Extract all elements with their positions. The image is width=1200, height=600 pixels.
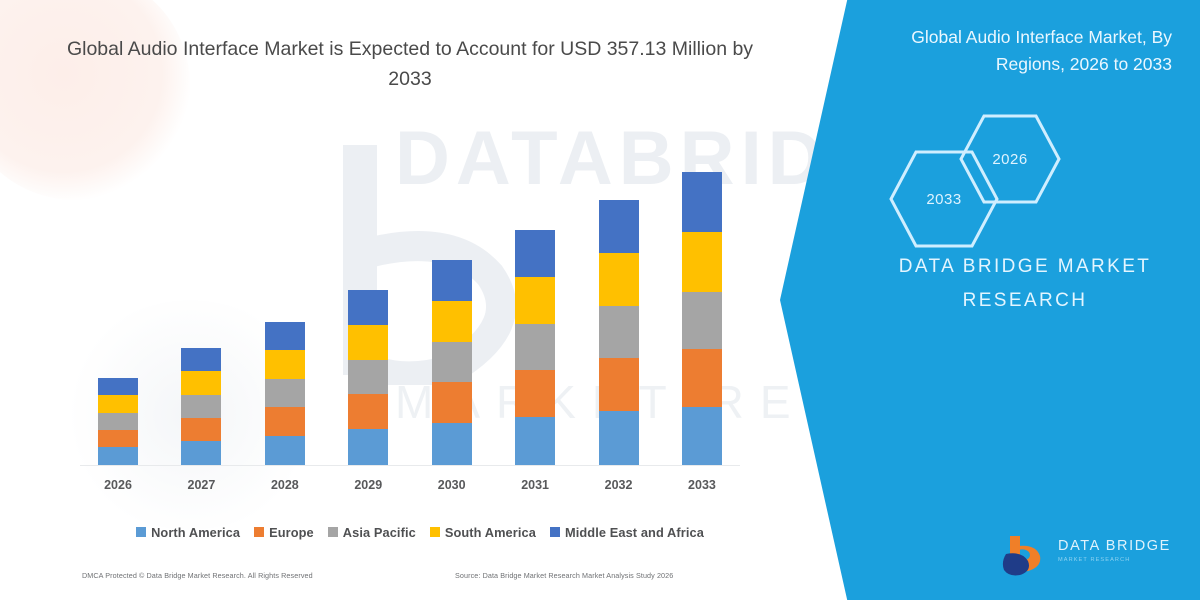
left-panel: Global Audio Interface Market is Expecte…: [0, 0, 830, 600]
bar-segment: [515, 370, 555, 417]
right-panel: Global Audio Interface Market, By Region…: [780, 0, 1200, 600]
bar-segment: [265, 350, 305, 379]
brand-name: DATA BRIDGE MARKET RESEARCH: [780, 250, 1200, 318]
bar-segment: [432, 342, 472, 382]
legend-item[interactable]: North America: [136, 525, 240, 540]
legend-label: Europe: [269, 525, 314, 540]
chart-plot-area: [80, 150, 740, 465]
bar-column-2031: [497, 150, 573, 465]
bar-segment: [515, 324, 555, 370]
bar-column-2032: [581, 150, 657, 465]
bar-segment: [682, 172, 722, 232]
legend-swatch-icon: [254, 527, 264, 537]
stacked-bar: [348, 290, 388, 465]
bar-segment: [599, 200, 639, 253]
x-axis-label-2033: 2033: [664, 478, 740, 500]
bar-segment: [98, 430, 138, 447]
legend-label: South America: [445, 525, 536, 540]
bar-segment: [432, 423, 472, 465]
bar-column-2027: [163, 150, 239, 465]
bar-segment: [181, 418, 221, 441]
stacked-bar: [265, 322, 305, 465]
brand-line-2: RESEARCH: [850, 284, 1200, 318]
hexagon-2033-label: 2033: [926, 191, 961, 208]
legend-item[interactable]: South America: [430, 525, 536, 540]
bar-segment: [515, 417, 555, 465]
bar-segment: [432, 382, 472, 423]
infographic-canvas: DATABRIDGE MARKET RESEARCH Global Audio …: [0, 0, 1200, 600]
bar-segment: [181, 371, 221, 395]
chart-legend: North AmericaEuropeAsia PacificSouth Ame…: [80, 520, 760, 544]
bar-group: [80, 150, 740, 465]
bar-column-2029: [330, 150, 406, 465]
stacked-bar: [432, 260, 472, 465]
bar-segment: [98, 395, 138, 413]
stacked-bar: [181, 348, 221, 465]
bar-column-2033: [664, 150, 740, 465]
bar-segment: [599, 253, 639, 306]
bar-segment: [265, 407, 305, 436]
bar-segment: [181, 441, 221, 465]
bar-segment: [515, 230, 555, 277]
legend-label: Middle East and Africa: [565, 525, 704, 540]
x-axis-label-2027: 2027: [163, 478, 239, 500]
stacked-bar: [599, 200, 639, 465]
bar-segment: [432, 301, 472, 342]
bar-column-2026: [80, 150, 156, 465]
bar-segment: [348, 290, 388, 325]
page-title: Global Audio Interface Market is Expecte…: [60, 34, 760, 94]
legend-label: Asia Pacific: [343, 525, 416, 540]
bar-segment: [599, 411, 639, 465]
footer-source: Source: Data Bridge Market Research Mark…: [455, 571, 673, 580]
legend-item[interactable]: Middle East and Africa: [550, 525, 704, 540]
legend-item[interactable]: Europe: [254, 525, 314, 540]
bar-column-2028: [247, 150, 323, 465]
bar-segment: [98, 378, 138, 395]
bar-segment: [682, 232, 722, 292]
x-axis-line: [80, 465, 740, 466]
dbmr-logo-text: DATA BRIDGE: [1058, 538, 1171, 554]
bar-segment: [348, 429, 388, 465]
x-axis-label-2028: 2028: [247, 478, 323, 500]
stacked-bar: [98, 378, 138, 465]
x-axis-label-2029: 2029: [330, 478, 406, 500]
bar-segment: [265, 322, 305, 350]
bar-segment: [181, 395, 221, 418]
footer-copyright: DMCA Protected © Data Bridge Market Rese…: [82, 571, 313, 580]
legend-label: North America: [151, 525, 240, 540]
bar-segment: [265, 436, 305, 465]
bar-segment: [98, 447, 138, 465]
legend-swatch-icon: [550, 527, 560, 537]
bar-segment: [348, 325, 388, 360]
bar-segment: [348, 360, 388, 394]
x-axis-label-2030: 2030: [414, 478, 490, 500]
bar-segment: [348, 394, 388, 429]
bar-column-2030: [414, 150, 490, 465]
brand-line-1: DATA BRIDGE MARKET: [850, 250, 1200, 284]
bar-segment: [682, 349, 722, 407]
right-panel-title: Global Audio Interface Market, By Region…: [842, 24, 1172, 78]
bar-segment: [181, 348, 221, 371]
dbmr-logo-subtext: MARKET RESEARCH: [1058, 557, 1130, 563]
legend-swatch-icon: [328, 527, 338, 537]
hexagon-2033: 2033: [888, 149, 1000, 249]
bar-segment: [265, 379, 305, 407]
x-axis-labels: 20262027202820292030203120322033: [80, 478, 740, 500]
bar-segment: [98, 413, 138, 430]
x-axis-label-2026: 2026: [80, 478, 156, 500]
bar-segment: [515, 277, 555, 324]
bar-segment: [599, 306, 639, 358]
x-axis-label-2031: 2031: [497, 478, 573, 500]
legend-swatch-icon: [430, 527, 440, 537]
dbmr-logo-icon: [1000, 534, 1048, 578]
bar-segment: [682, 292, 722, 349]
dbmr-logo: DATA BRIDGE MARKET RESEARCH: [1000, 532, 1180, 580]
legend-item[interactable]: Asia Pacific: [328, 525, 416, 540]
hexagon-group: 2026 2033: [870, 105, 1110, 235]
stacked-bar: [682, 172, 722, 465]
hexagon-2026-label: 2026: [992, 151, 1027, 168]
bar-segment: [432, 260, 472, 301]
bar-segment: [682, 407, 722, 465]
stacked-bar: [515, 230, 555, 465]
bar-segment: [599, 358, 639, 411]
x-axis-label-2032: 2032: [581, 478, 657, 500]
legend-swatch-icon: [136, 527, 146, 537]
